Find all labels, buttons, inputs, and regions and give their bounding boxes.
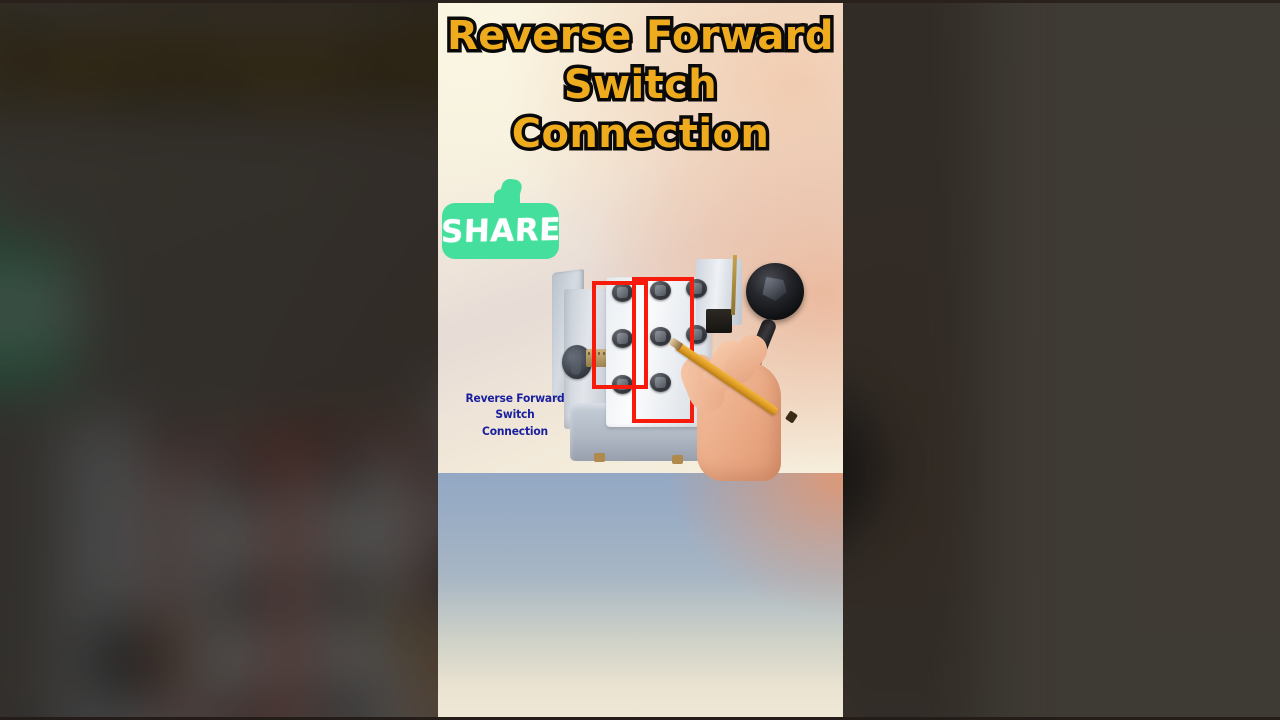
backdrop-red-annotation <box>268 436 430 720</box>
backdrop-switch-screwbar <box>148 624 253 671</box>
backdrop-right-shade <box>843 0 987 720</box>
backdrop-terminal <box>315 687 370 720</box>
lever-knob <box>746 263 804 320</box>
blue-caption: Reverse Forward Switch Connection <box>455 390 576 439</box>
backdrop-right <box>843 0 1280 720</box>
backdrop-pencil-tip <box>365 594 403 629</box>
backdrop-switch-scene <box>43 373 438 720</box>
caption-line-1: Reverse Forward <box>455 390 576 406</box>
title-line-3: Connection <box>438 114 843 154</box>
video-frame[interactable]: Reverse Forward Switch Connection SHARE … <box>438 0 843 720</box>
hand <box>683 315 801 480</box>
video-player-stage: Reverse Forward Switch Connection SHARE … <box>0 0 1280 720</box>
share-badge[interactable]: SHARE <box>442 203 559 259</box>
backdrop-title-line-3: Connection <box>0 9 438 114</box>
video-title: Reverse Forward Switch Connection <box>438 16 843 163</box>
backdrop-switch-dial <box>85 614 164 703</box>
backdrop-left-shade <box>0 0 438 720</box>
share-label: SHARE <box>440 212 561 251</box>
backdrop-left-top-bg <box>0 0 438 720</box>
backdrop-switch-backplate <box>59 415 143 720</box>
share-bubble[interactable]: SHARE <box>442 203 559 259</box>
backdrop-right-canvas <box>843 0 987 720</box>
backdrop-terminal <box>315 446 370 496</box>
backdrop-left-title: Reverse Forward Switch Connection <box>0 0 438 137</box>
backdrop-left: Reverse Forward Switch Connection SHARE … <box>0 0 438 720</box>
caption-line-3: Connection <box>455 423 576 439</box>
backdrop-lever-knob <box>843 389 872 538</box>
backdrop-left-canvas: Reverse Forward Switch Connection SHARE … <box>0 0 438 720</box>
backdrop-terminal <box>216 692 271 720</box>
top-edge-bleed <box>0 0 1280 3</box>
backdrop-left-inner: Reverse Forward Switch Connection SHARE … <box>0 0 438 720</box>
backdrop-terminal <box>410 682 438 720</box>
backdrop-right-top-bg <box>843 0 974 720</box>
backdrop-terminal <box>410 561 438 611</box>
backdrop-hand <box>843 525 864 720</box>
caption-line-2: Switch <box>455 406 576 422</box>
backdrop-thumb <box>382 629 438 720</box>
backdrop-terminal <box>410 441 438 491</box>
backdrop-pencil <box>380 605 438 720</box>
video-bottom-background <box>438 473 843 720</box>
backdrop-terminal <box>216 451 271 501</box>
backdrop-red-annotation <box>163 446 310 720</box>
pencil-end <box>785 410 798 423</box>
title-line-2: Switch <box>438 65 843 105</box>
backdrop-terminal <box>315 567 370 617</box>
switch-scene <box>546 253 776 473</box>
title-line-1: Reverse Forward <box>438 16 843 56</box>
backdrop-switch-body-left <box>90 467 242 720</box>
switch-foot-left <box>594 453 605 462</box>
backdrop-right-inner <box>843 0 987 720</box>
backdrop-terminal <box>216 572 271 622</box>
backdrop-share-label: SHARE <box>0 265 82 366</box>
backdrop-switch-terminal-block <box>200 436 438 720</box>
backdrop-share-badge: SHARE <box>0 242 77 389</box>
switch-foot-right <box>672 455 683 464</box>
backdrop-share-bubble: SHARE <box>0 242 77 389</box>
backdrop-hand <box>402 535 438 720</box>
